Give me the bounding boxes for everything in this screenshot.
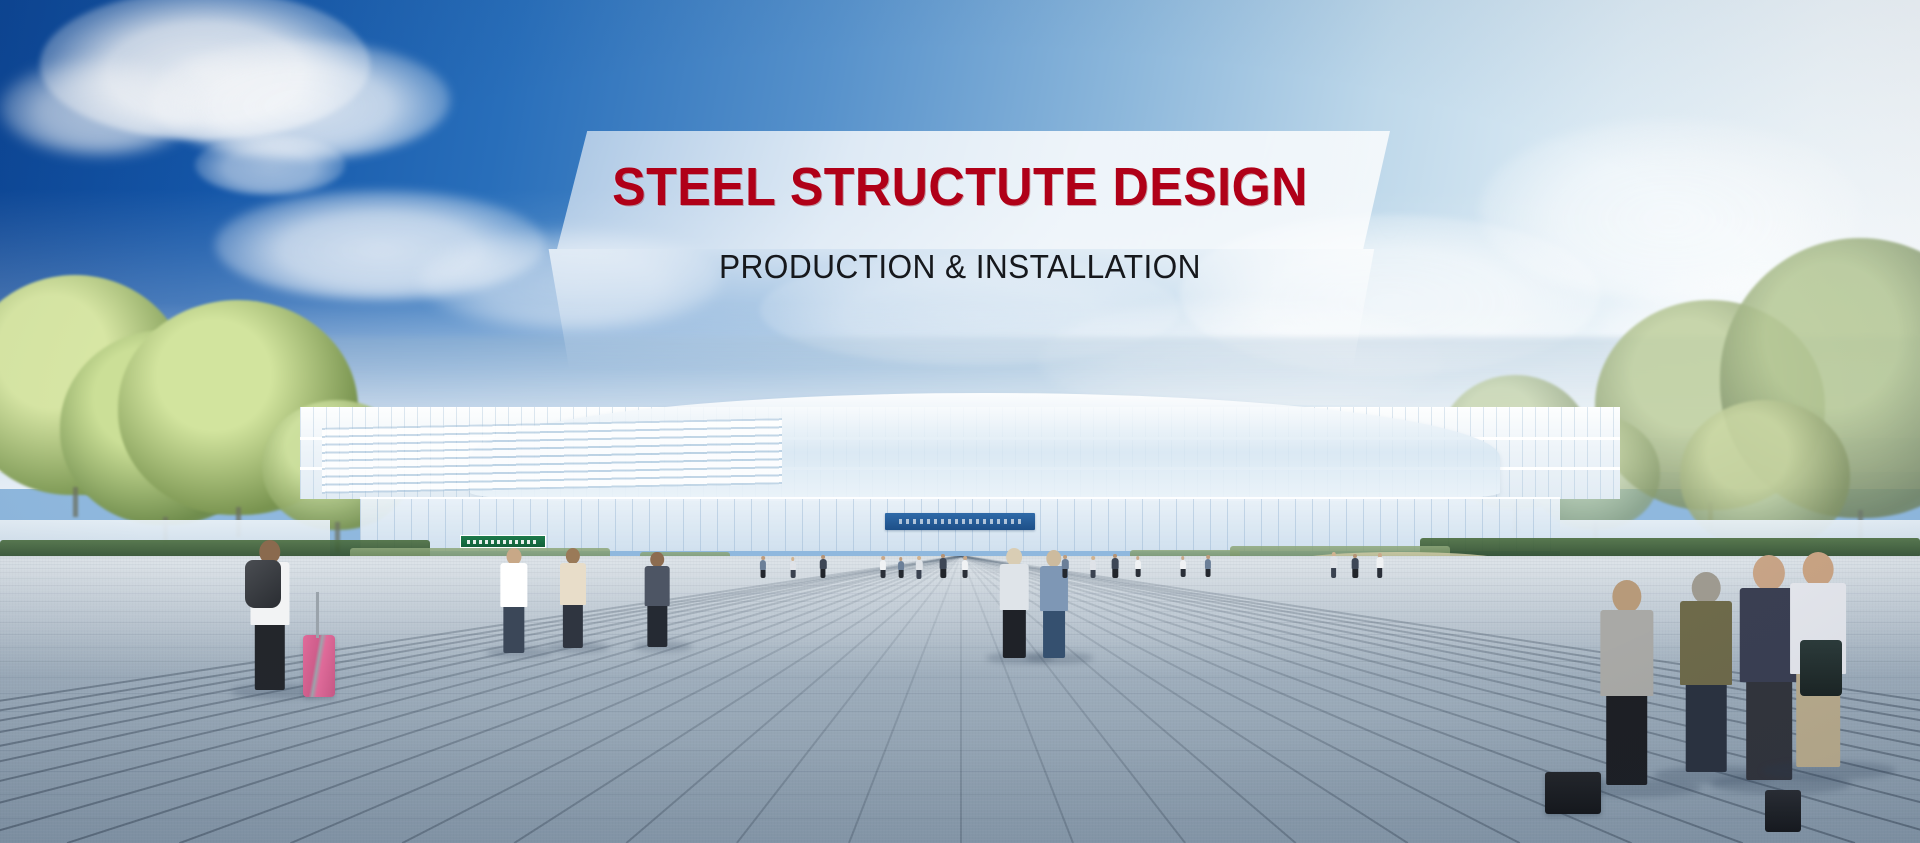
person-legs (1686, 685, 1727, 772)
midground-person (760, 556, 766, 578)
person-legs (1043, 611, 1065, 658)
person-torso (1180, 560, 1186, 569)
person-legs (1181, 569, 1186, 577)
person-torso (790, 561, 796, 570)
pink-suitcase (303, 635, 335, 697)
person-legs (791, 570, 796, 578)
person-legs (941, 569, 946, 578)
person-legs (503, 607, 524, 653)
person-legs (899, 570, 904, 578)
person-head (1803, 552, 1834, 587)
person-legs (254, 625, 284, 690)
person-legs (1353, 569, 1358, 578)
person-torso (1205, 559, 1211, 569)
person-legs (1331, 568, 1337, 578)
person-torso (880, 560, 886, 570)
person-legs (648, 606, 667, 647)
midground-person (1330, 552, 1337, 578)
person-legs (1063, 569, 1068, 578)
person-torso (962, 560, 968, 570)
person-torso (1376, 557, 1383, 568)
person-torso (1135, 560, 1141, 569)
person-torso (1062, 559, 1068, 569)
person-torso (898, 561, 904, 570)
walker-center-left (1000, 548, 1029, 658)
person-torso (1600, 610, 1653, 696)
midground-person (1062, 555, 1068, 578)
person-torso (760, 560, 766, 570)
midground-person (962, 556, 968, 578)
person-torso (1330, 556, 1337, 568)
suitcase-handle (316, 592, 319, 638)
midground-person (1180, 556, 1186, 577)
backpack (245, 560, 281, 608)
man-with-bag (645, 552, 670, 647)
hero-banner-image: STEEL STRUCTUTE DESIGN PRODUCTION & INST… (0, 0, 1920, 843)
woman-grey-coat (1600, 580, 1653, 785)
person-torso (1000, 564, 1029, 610)
midground-person (1205, 555, 1211, 577)
black-bag-ground (1765, 790, 1801, 832)
person-torso (500, 563, 527, 607)
midground-person (1135, 556, 1141, 577)
person-torso (1090, 560, 1096, 570)
person-legs (917, 570, 922, 579)
midground-person (790, 557, 796, 578)
person-torso (1680, 601, 1732, 685)
midground-person (1112, 554, 1119, 578)
midground-person (880, 556, 886, 578)
page-subtitle: PRODUCTION & INSTALLATION (38, 250, 1881, 283)
messenger-bag (1800, 640, 1842, 696)
person-head (1612, 580, 1641, 613)
woman-in-white-left (500, 548, 527, 653)
person-legs (1113, 569, 1118, 578)
person-torso (1352, 558, 1359, 569)
midground-person (898, 557, 904, 578)
person-legs (1206, 569, 1211, 577)
people-layer (0, 0, 1920, 843)
person-legs (821, 569, 826, 578)
person-head (1692, 572, 1721, 604)
midground-person (940, 554, 947, 578)
person-legs (1091, 570, 1096, 578)
midground-person (916, 556, 922, 579)
person-torso (560, 563, 586, 605)
person-torso (916, 560, 922, 570)
person-legs (963, 570, 968, 578)
person-head (1753, 555, 1785, 591)
person-legs (1003, 610, 1025, 658)
woman-olive-jacket (1680, 572, 1732, 772)
person-legs (1136, 569, 1141, 577)
person-torso (820, 559, 826, 569)
page-title: STEEL STRUCTUTE DESIGN (67, 160, 1853, 214)
person-legs (1377, 568, 1383, 578)
woman-in-tan (560, 548, 586, 648)
person-torso (940, 558, 947, 569)
person-torso (1112, 558, 1119, 569)
person-legs (563, 605, 583, 648)
person-torso (645, 566, 670, 606)
person-legs (1606, 696, 1648, 785)
person-legs (881, 570, 886, 578)
midground-person (1352, 554, 1359, 578)
midground-person (1376, 553, 1383, 578)
black-briefcase (1545, 772, 1601, 814)
midground-person (820, 555, 826, 578)
person-legs (761, 570, 766, 578)
midground-person (1090, 556, 1096, 578)
